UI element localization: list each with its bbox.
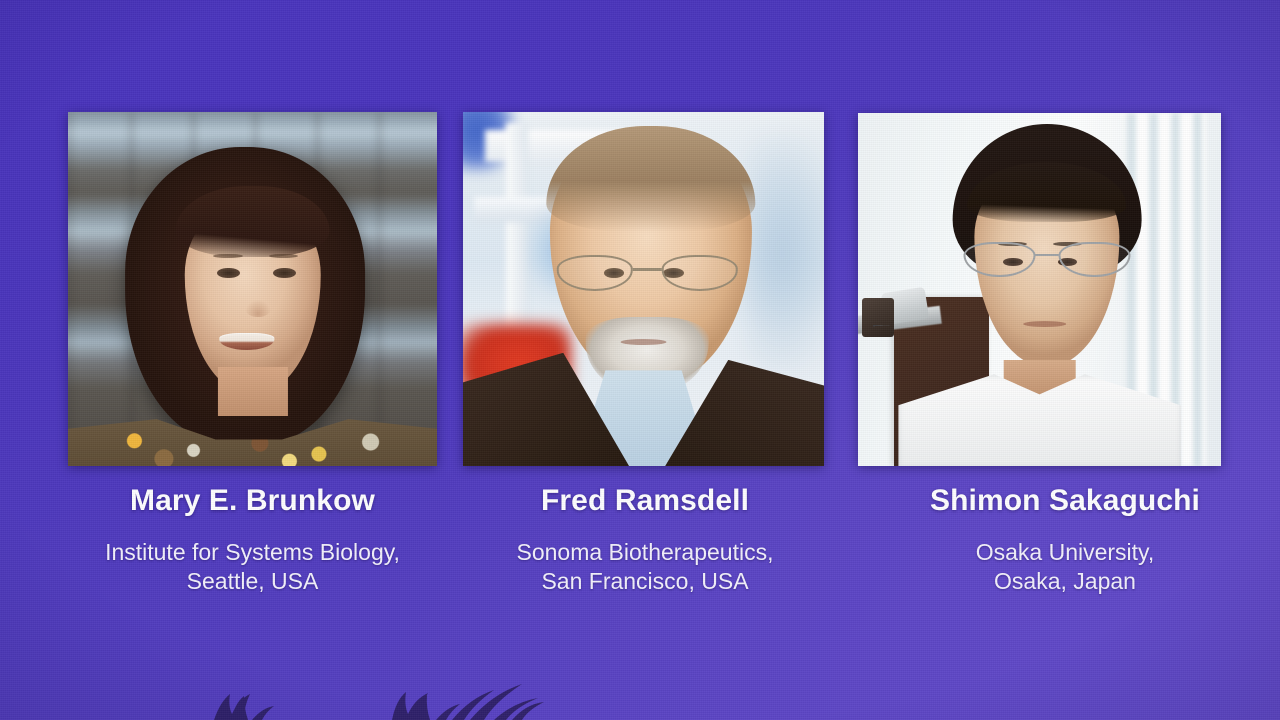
glasses-bridge [633,268,662,271]
glasses-lens-right [1058,242,1130,277]
affiliation-line-1: Institute for Systems Biology, [105,539,400,565]
eyeglasses [963,242,1130,277]
laureate-card-ramsdell: Fred Ramsdell Sonoma Biotherapeutics, Sa… [455,0,835,720]
laureate-card-sakaguchi: Shimon Sakaguchi Osaka University, Osaka… [850,0,1280,720]
background-post [506,123,528,328]
portrait-photo-brunkow [68,112,437,466]
laureate-name-sakaguchi: Shimon Sakaguchi [850,484,1280,518]
mouth-shape [1023,321,1067,327]
laureate-name-brunkow: Mary E. Brunkow [0,484,505,518]
affiliation-line-2: Seattle, USA [0,567,505,596]
portrait-photo-ramsdell [463,112,824,466]
eye-right [273,268,296,279]
laureate-affiliation-brunkow: Institute for Systems Biology, Seattle, … [0,538,505,596]
glasses-bridge [1035,254,1058,256]
glasses-lens-right [662,255,738,290]
background-right-blur [745,133,824,374]
glasses-lens-left [963,242,1035,277]
laureate-affiliation-ramsdell: Sonoma Biotherapeutics, San Francisco, U… [455,538,835,596]
laureate-row: Mary E. Brunkow Institute for Systems Bi… [0,0,1280,720]
laureate-card-brunkow: Mary E. Brunkow Institute for Systems Bi… [0,0,505,720]
affiliation-line-1: Sonoma Biotherapeutics, [517,539,774,565]
affiliation-line-2: San Francisco, USA [455,567,835,596]
affiliation-line-2: Osaka, Japan [850,567,1280,596]
laureate-name-ramsdell: Fred Ramsdell [455,484,835,518]
laureate-affiliation-sakaguchi: Osaka University, Osaka, Japan [850,538,1280,596]
portrait-frame-brunkow [68,112,437,466]
affiliation-line-1: Osaka University, [976,539,1155,565]
eyeglasses [557,255,738,290]
eyebrow-left [213,254,243,258]
portrait-photo-sakaguchi [858,113,1221,466]
neck-shape [217,367,287,417]
glasses-lens-left [557,255,633,290]
portrait-frame-sakaguchi [858,113,1221,466]
eyebrow-right [269,254,299,258]
nose-shape [245,300,271,318]
portrait-frame-ramsdell [463,112,824,466]
presentation-slide: Mary E. Brunkow Institute for Systems Bi… [0,0,1280,720]
